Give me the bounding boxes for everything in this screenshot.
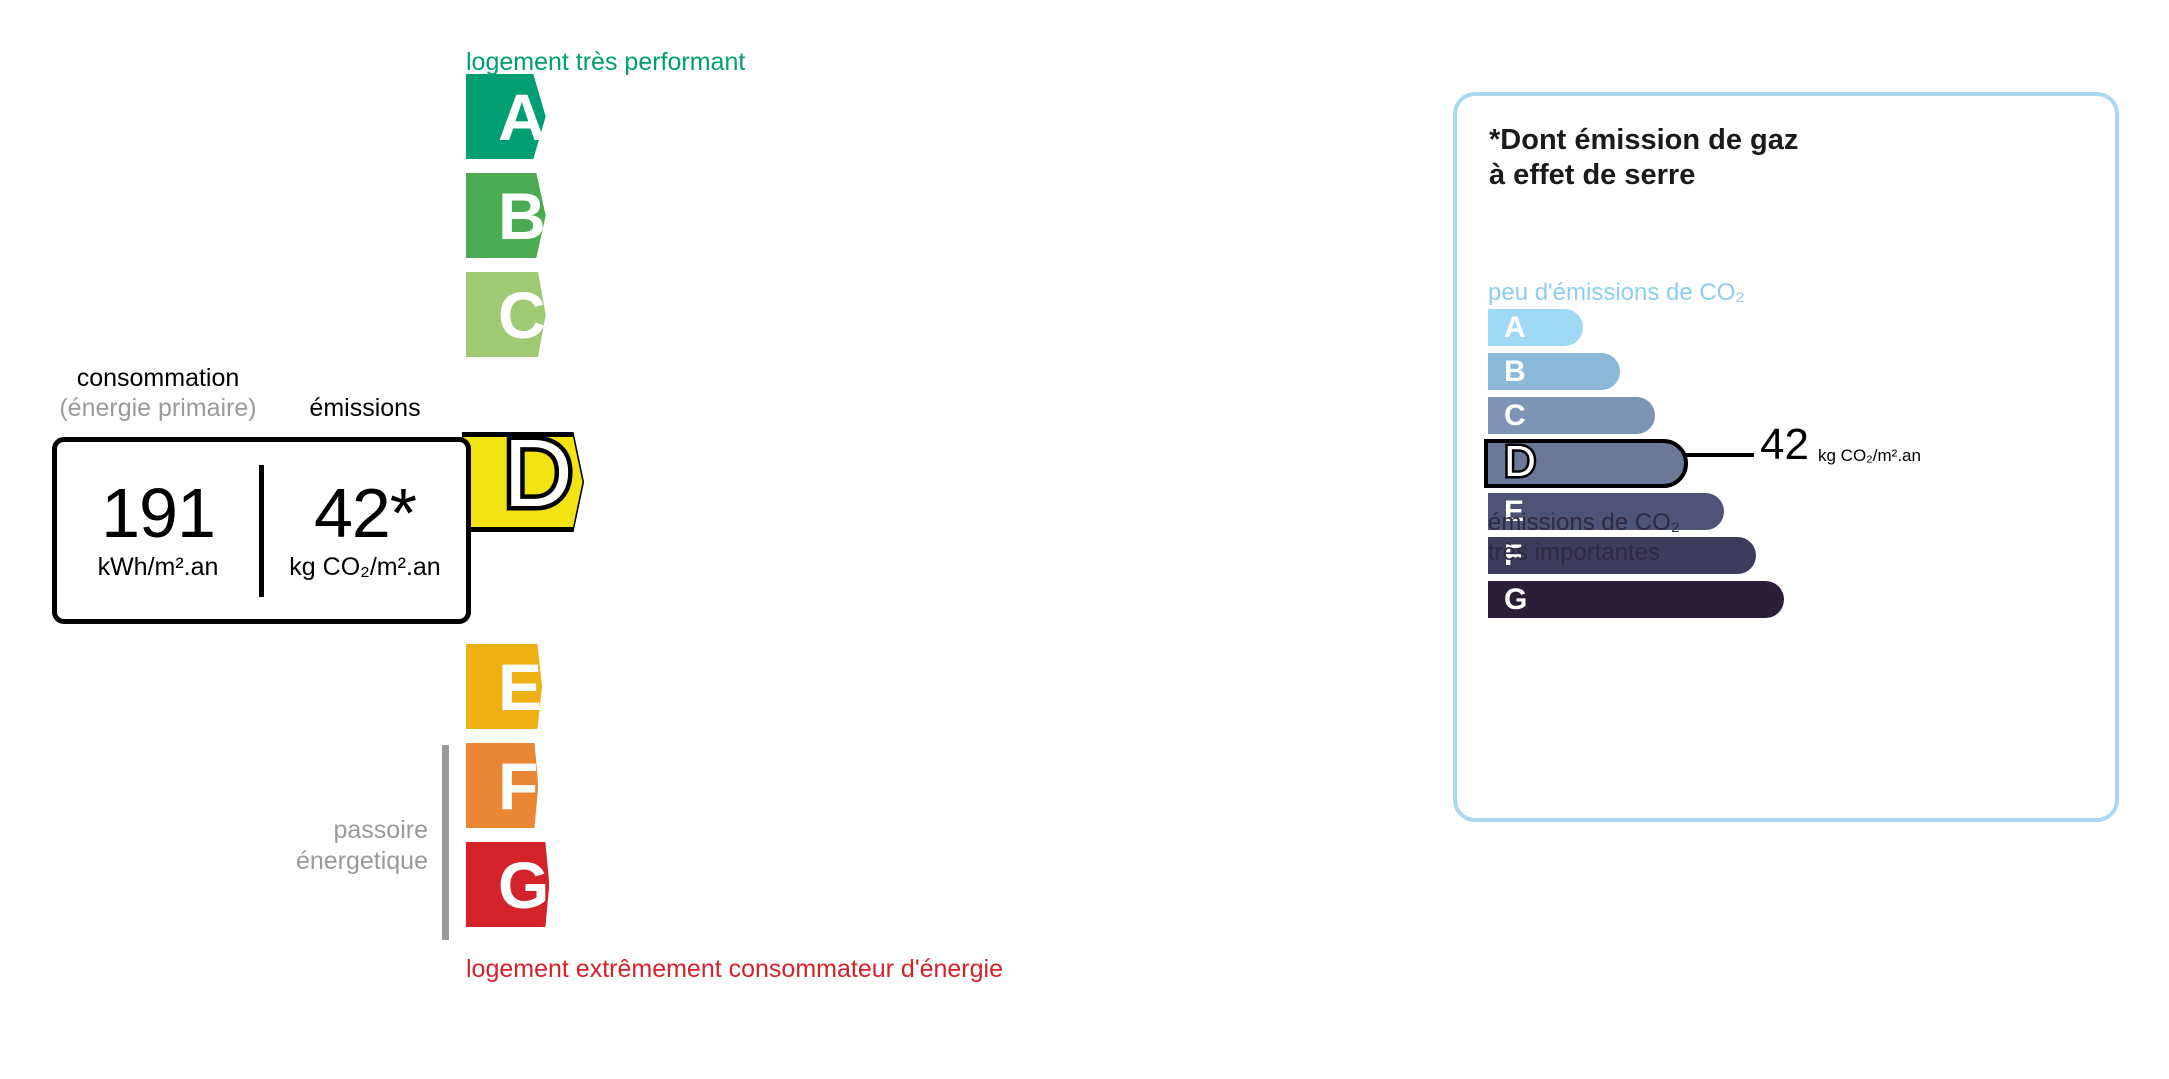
svg-text:D: D [1504,442,1536,486]
co2-emissions-panel: *Dont émission de gaz à effet de serre p… [1453,92,2119,822]
co2-bar-b-letter: B [1504,357,1526,387]
energy-band-c[interactable]: C [466,272,546,357]
co2-title-line1: *Dont émission de gaz [1489,123,1798,158]
emissions-cell: émissions 42* kg CO₂/m².an [264,442,466,619]
energy-band-g[interactable]: G [466,842,549,927]
band-f-letter: F [498,753,538,819]
co2-panel-title: *Dont émission de gaz à effet de serre [1489,123,1798,194]
passoire-energetique-label: passoire énergetique [180,815,428,878]
band-g-letter: G [498,852,549,918]
co2-bar-g[interactable]: G [1488,581,1784,618]
co2-bar-a[interactable]: A [1488,309,1583,346]
co2-bar-g-letter: G [1504,585,1527,615]
passoire-label-line2: énergetique [180,846,428,877]
band-d-letter: D [492,434,584,531]
energy-band-e[interactable]: E [466,644,542,729]
band-a-letter: A [498,84,546,150]
scale-top-caption: logement très performant [466,48,745,77]
co2-bar-b[interactable]: B [1488,353,1620,390]
co2-title-line2: à effet de serre [1489,158,1798,193]
co2-top-caption: peu d'émissions de CO₂ [1488,279,1745,307]
energy-band-a[interactable]: A [466,74,546,159]
co2-callout-value: 42 [1760,423,1809,467]
band-e-letter: E [498,654,542,720]
co2-bottom-caption: émissions de CO₂ très importantes [1488,508,1680,568]
consumption-sublabel: (énergie primaire) [57,394,259,423]
consumption-unit: kWh/m².an [98,553,219,582]
co2-bar-d[interactable]: D [1484,439,1688,488]
energy-band-b[interactable]: B [466,173,546,258]
co2-bar-c[interactable]: C [1488,397,1655,434]
dpe-value-box: consommation (énergie primaire) 191 kWh/… [52,437,471,624]
svg-text:D: D [503,434,572,526]
energy-performance-scale: logement très performant A B C D [0,0,1400,1079]
energy-band-f[interactable]: F [466,743,538,828]
emissions-label: émissions [264,394,466,423]
consumption-label: consommation [57,364,259,393]
band-b-letter: B [498,183,546,249]
band-c-letter: C [498,282,546,348]
emissions-value: 42* [314,479,416,548]
consumption-cell: consommation (énergie primaire) 191 kWh/… [57,442,259,619]
co2-callout-unit: kg CO₂/m².an [1818,446,1921,466]
co2-bottom-caption-line2: très importantes [1488,538,1680,568]
scale-bottom-caption: logement extrêmement consommateur d'éner… [466,955,1003,984]
energy-band-d[interactable]: D [462,432,584,532]
co2-bottom-caption-line1: émissions de CO₂ [1488,508,1680,538]
consumption-value: 191 [101,479,215,548]
co2-bar-a-letter: A [1504,313,1526,343]
co2-callout-connector [1686,453,1754,457]
co2-bar-list: A B C D E F G [1488,309,1784,625]
passoire-label-line1: passoire [180,815,428,846]
co2-bar-d-letter: D [1498,442,1542,486]
co2-bar-c-letter: C [1504,401,1526,431]
emissions-unit: kg CO₂/m².an [289,553,440,582]
passoire-energetique-bar [442,745,449,940]
